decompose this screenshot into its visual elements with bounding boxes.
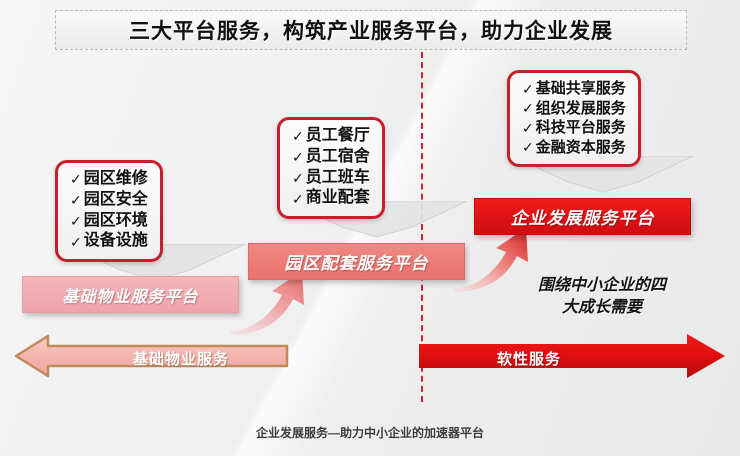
list-item-label: 园区维修 [84, 169, 148, 190]
check-icon: ✓ [70, 191, 82, 209]
list-item-label: 园区安全 [84, 190, 148, 211]
platform-bar-enterprise-development: 企业发展服务平台 [474, 198, 691, 235]
list-item-label: 员工餐厅 [306, 126, 370, 147]
direction-arrow-soft-service [419, 332, 727, 380]
list-item-label: 员工班车 [306, 168, 370, 189]
list-item: ✓园区安全 [70, 190, 148, 211]
list-item: ✓科技平台服务 [522, 118, 626, 138]
footer-caption: 企业发展服务—助力中小企业的加速器平台 [0, 424, 740, 441]
list-item-label: 商业配套 [306, 188, 370, 209]
list-item: ✓基础共享服务 [522, 79, 626, 99]
annotation-line-2: 大成长需要 [512, 297, 692, 319]
checklist-box-enterprise-development: ✓基础共享服务 ✓组织发展服务 ✓科技平台服务 ✓金融资本服务 [507, 70, 641, 167]
check-icon: ✓ [292, 127, 304, 145]
list-item-label: 设备设施 [84, 231, 148, 252]
slide-canvas: 三大平台服务，构筑产业服务平台，助力企业发展 ✓园区维修 ✓园区安全 ✓园区环境… [0, 0, 740, 456]
direction-arrow-hard-service-label: 基础物业服务 [133, 348, 229, 369]
checklist-box-park-support: ✓员工餐厅 ✓员工宿舍 ✓员工班车 ✓商业配套 [277, 117, 385, 219]
platform-bar-basic-property: 基础物业服务平台 [22, 276, 239, 313]
list-item: ✓设备设施 [70, 231, 148, 252]
check-icon: ✓ [292, 148, 304, 166]
check-icon: ✓ [522, 119, 534, 137]
check-icon: ✓ [292, 169, 304, 187]
list-item: ✓员工餐厅 [292, 126, 370, 147]
list-item-label: 基础共享服务 [536, 79, 626, 99]
annotation-text: 围绕中小企业的四 大成长需要 [512, 275, 692, 318]
direction-arrow-soft-service-label: 软性服务 [497, 348, 561, 369]
check-icon: ✓ [522, 99, 534, 117]
platform-bar-park-support: 园区配套服务平台 [248, 243, 465, 280]
list-item: ✓园区环境 [70, 211, 148, 232]
list-item-label: 组织发展服务 [536, 99, 626, 119]
list-item: ✓员工班车 [292, 168, 370, 189]
list-item-label: 科技平台服务 [536, 118, 626, 138]
platform-bar-label: 园区配套服务平台 [285, 249, 429, 274]
check-icon: ✓ [522, 80, 534, 98]
check-icon: ✓ [292, 190, 304, 208]
checklist-box-basic-property: ✓园区维修 ✓园区安全 ✓园区环境 ✓设备设施 [55, 160, 163, 262]
list-item: ✓金融资本服务 [522, 138, 626, 158]
annotation-line-1: 围绕中小企业的四 [512, 275, 692, 297]
list-item-label: 园区环境 [84, 211, 148, 232]
platform-bar-label: 企业发展服务平台 [511, 204, 655, 229]
platform-bar-label: 基础物业服务平台 [62, 283, 198, 307]
check-icon: ✓ [70, 233, 82, 251]
list-item-label: 金融资本服务 [536, 138, 626, 158]
page-title-box: 三大平台服务，构筑产业服务平台，助力企业发展 [55, 10, 687, 50]
list-item: ✓商业配套 [292, 188, 370, 209]
list-item: ✓园区维修 [70, 169, 148, 190]
check-icon: ✓ [70, 170, 82, 188]
list-item: ✓组织发展服务 [522, 99, 626, 119]
check-icon: ✓ [522, 138, 534, 156]
page-title: 三大平台服务，构筑产业服务平台，助力企业发展 [129, 15, 613, 45]
list-item: ✓员工宿舍 [292, 147, 370, 168]
check-icon: ✓ [70, 212, 82, 230]
list-item-label: 员工宿舍 [306, 147, 370, 168]
